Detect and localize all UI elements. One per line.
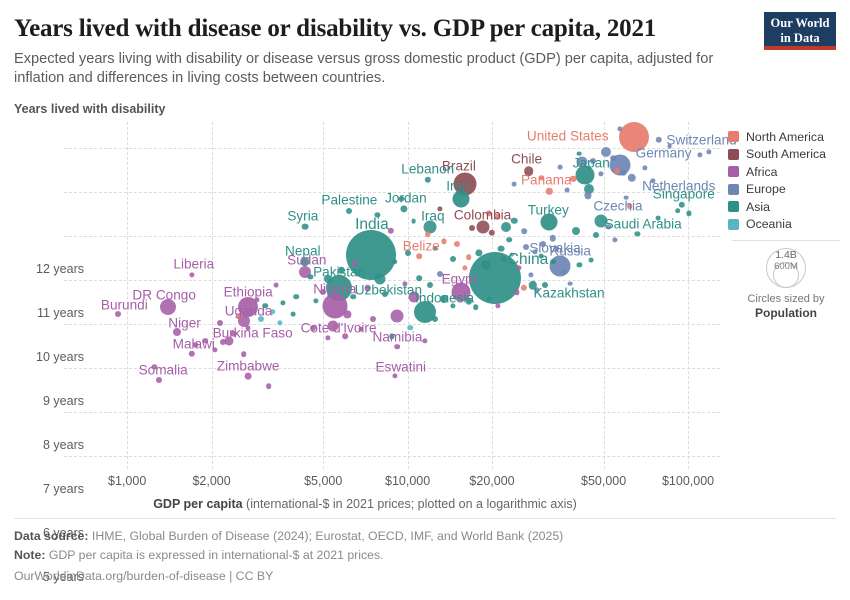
- data-point[interactable]: [517, 265, 522, 270]
- x-axis-tick-label: $2,000: [192, 474, 230, 488]
- owid-logo[interactable]: Our World in Data: [764, 12, 836, 50]
- data-point[interactable]: [558, 164, 563, 169]
- data-point-namibia[interactable]: [395, 344, 401, 350]
- data-point-lebanon[interactable]: [425, 177, 431, 183]
- legend-item-north-america[interactable]: North America: [728, 128, 844, 146]
- data-point-liberia[interactable]: [189, 272, 194, 277]
- data-point[interactable]: [650, 179, 655, 184]
- point-label-eswatini: Eswatini: [375, 359, 426, 374]
- footer-source-text: IHME, Global Burden of Disease (2024); E…: [89, 529, 564, 543]
- footer-source: Data source: IHME, Global Burden of Dise…: [14, 529, 563, 543]
- data-point-czechia[interactable]: [584, 192, 591, 199]
- data-point-singapore[interactable]: [679, 201, 685, 207]
- data-point[interactable]: [270, 309, 276, 315]
- data-point[interactable]: [469, 225, 475, 231]
- y-axis-tick-label: 10 years: [14, 350, 84, 364]
- data-point[interactable]: [570, 176, 576, 182]
- data-point[interactable]: [254, 297, 259, 302]
- data-point[interactable]: [262, 303, 268, 309]
- data-point[interactable]: [392, 259, 398, 265]
- data-point[interactable]: [613, 237, 618, 242]
- data-point[interactable]: [667, 144, 672, 149]
- data-point[interactable]: [375, 213, 380, 218]
- legend-item-south-america[interactable]: South America: [728, 146, 844, 164]
- x-axis-tick-label: $100,000: [662, 474, 714, 488]
- y-gridline: [64, 192, 720, 193]
- point-label-syria: Syria: [287, 208, 318, 223]
- point-label-liberia: Liberia: [173, 256, 214, 271]
- data-point-uzbekistan[interactable]: [375, 274, 386, 285]
- point-label-zimbabwe: Zimbabwe: [217, 358, 280, 373]
- x-gridline: [127, 122, 128, 469]
- data-point[interactable]: [565, 188, 570, 193]
- data-point[interactable]: [399, 196, 404, 201]
- data-point[interactable]: [387, 228, 393, 234]
- footer-divider: [14, 518, 836, 519]
- data-point[interactable]: [364, 285, 371, 292]
- size-key-caption-2: Population: [728, 306, 844, 321]
- data-point[interactable]: [687, 211, 692, 216]
- scatter-plot-area: $1,000$2,000$5,000$10,000$20,000$50,000$…: [100, 122, 720, 469]
- data-point[interactable]: [512, 182, 517, 187]
- data-point[interactable]: [432, 316, 438, 322]
- x-axis-tick-label: $1,000: [108, 474, 146, 488]
- size-key-caption-1: Circles sized by: [728, 292, 844, 306]
- data-point[interactable]: [313, 299, 318, 304]
- data-point[interactable]: [407, 325, 413, 331]
- data-point[interactable]: [511, 218, 517, 224]
- data-point-netherlands[interactable]: [628, 174, 636, 182]
- x-axis-title-bold: GDP per capita: [153, 497, 242, 511]
- data-point-chile[interactable]: [524, 166, 534, 176]
- data-point[interactable]: [593, 232, 599, 238]
- y-gridline: [64, 280, 720, 281]
- legend-label: North America: [746, 130, 824, 144]
- data-point-colombia[interactable]: [476, 220, 489, 233]
- data-point[interactable]: [217, 320, 223, 326]
- point-label-brazil: Brazil: [442, 159, 476, 174]
- data-point[interactable]: [572, 227, 580, 235]
- data-point[interactable]: [324, 275, 332, 283]
- chart-page: Years lived with disease or disability v…: [0, 0, 850, 600]
- data-point[interactable]: [212, 347, 217, 352]
- legend-item-europe[interactable]: Europe: [728, 181, 844, 199]
- y-gridline: [64, 324, 720, 325]
- data-point[interactable]: [590, 158, 596, 164]
- data-point[interactable]: [325, 336, 330, 341]
- data-point-iran[interactable]: [452, 190, 469, 207]
- footer-source-label: Data source:: [14, 529, 89, 543]
- data-point[interactable]: [486, 211, 491, 216]
- data-point-burundi[interactable]: [115, 311, 121, 317]
- data-point[interactable]: [408, 291, 419, 302]
- data-point[interactable]: [437, 271, 443, 277]
- legend-label: Asia: [746, 200, 770, 214]
- y-gridline: [64, 148, 720, 149]
- data-point[interactable]: [344, 311, 351, 318]
- data-point-united-states[interactable]: [619, 122, 649, 152]
- data-point[interactable]: [610, 155, 616, 161]
- y-axis-title: Years lived with disability: [14, 102, 165, 116]
- data-point-belize[interactable]: [416, 253, 422, 259]
- data-point[interactable]: [501, 222, 511, 232]
- data-point[interactable]: [291, 312, 296, 317]
- data-point[interactable]: [554, 246, 560, 252]
- x-gridline: [323, 122, 324, 469]
- data-point[interactable]: [675, 208, 681, 214]
- legend-swatch: [728, 149, 739, 160]
- data-point[interactable]: [606, 224, 611, 229]
- point-label-czechia: Czechia: [593, 199, 642, 214]
- data-point[interactable]: [487, 296, 492, 301]
- point-label-lebanon: Lebanon: [401, 161, 454, 176]
- owid-logo-line1: Our World: [764, 16, 836, 31]
- y-gridline: [64, 368, 720, 369]
- x-gridline: [688, 122, 689, 469]
- data-point[interactable]: [246, 325, 251, 330]
- data-point[interactable]: [450, 256, 456, 262]
- data-point[interactable]: [707, 149, 712, 154]
- page-subtitle: Expected years living with disability or…: [14, 50, 726, 88]
- data-point[interactable]: [577, 151, 582, 156]
- data-point[interactable]: [535, 287, 540, 292]
- data-point[interactable]: [338, 267, 344, 273]
- data-point[interactable]: [577, 262, 582, 267]
- x-axis-tick-label: $20,000: [469, 474, 514, 488]
- data-point[interactable]: [440, 295, 448, 303]
- data-point[interactable]: [521, 285, 527, 291]
- data-point[interactable]: [539, 176, 544, 181]
- footer-note: Note: GDP per capita is expressed in int…: [14, 548, 384, 562]
- size-key-circles: 1.4B 600M: [728, 246, 844, 292]
- data-point[interactable]: [533, 249, 538, 254]
- data-point[interactable]: [193, 343, 198, 348]
- data-point-syria[interactable]: [301, 223, 308, 230]
- x-axis-title: GDP per capita (international-$ in 2021 …: [0, 497, 730, 511]
- data-point[interactable]: [506, 237, 512, 243]
- data-point[interactable]: [542, 282, 548, 288]
- data-point[interactable]: [274, 283, 279, 288]
- data-point[interactable]: [568, 281, 573, 286]
- data-point-malawi[interactable]: [189, 351, 195, 357]
- footer-link[interactable]: OurWorldinData.org/burden-of-disease | C…: [14, 569, 273, 583]
- data-point-somalia[interactable]: [156, 377, 162, 383]
- data-point[interactable]: [497, 245, 504, 252]
- data-point[interactable]: [442, 239, 447, 244]
- data-point[interactable]: [495, 214, 500, 219]
- point-label-singapore: Singapore: [653, 186, 715, 201]
- owid-logo-line2: in Data: [764, 31, 836, 46]
- data-point[interactable]: [540, 241, 546, 247]
- data-point-palestine[interactable]: [346, 208, 352, 214]
- legend-swatch: [728, 184, 739, 195]
- data-point-slovakia[interactable]: [550, 235, 556, 241]
- y-gridline: [64, 412, 720, 413]
- legend-swatch: [728, 219, 739, 230]
- legend-swatch: [728, 131, 739, 142]
- legend-label: Africa: [746, 165, 777, 179]
- data-point[interactable]: [473, 305, 479, 311]
- data-point[interactable]: [310, 325, 316, 331]
- data-point[interactable]: [437, 206, 442, 211]
- data-point[interactable]: [293, 294, 299, 300]
- data-point[interactable]: [281, 300, 286, 305]
- data-point-panama[interactable]: [546, 188, 552, 194]
- data-point[interactable]: [514, 290, 519, 295]
- data-point[interactable]: [655, 215, 660, 220]
- data-point[interactable]: [405, 250, 411, 256]
- data-point[interactable]: [623, 195, 628, 200]
- data-point[interactable]: [523, 244, 529, 250]
- y-axis-tick-label: 11 years: [14, 306, 84, 320]
- data-point[interactable]: [465, 298, 471, 304]
- data-point[interactable]: [427, 282, 433, 288]
- point-label-chile: Chile: [511, 152, 542, 167]
- data-point[interactable]: [588, 258, 593, 263]
- data-point[interactable]: [382, 291, 388, 297]
- point-label-united-states: United States: [527, 129, 609, 144]
- data-point[interactable]: [241, 351, 247, 357]
- data-point[interactable]: [220, 339, 226, 345]
- data-point[interactable]: [509, 252, 514, 257]
- population-size-key: 1.4B 600M Circles sized by Population: [728, 246, 844, 321]
- footer-note-text: GDP per capita is expressed in internati…: [45, 548, 383, 562]
- data-point[interactable]: [539, 254, 544, 259]
- y-axis-tick-label: 7 years: [14, 482, 84, 496]
- data-point-dr-congo[interactable]: [160, 299, 176, 315]
- data-point-eswatini[interactable]: [392, 373, 397, 378]
- size-key-outer-label: 1.4B: [775, 249, 797, 261]
- data-point-china[interactable]: [469, 252, 521, 304]
- legend-label: Europe: [746, 182, 786, 196]
- data-point-jordan[interactable]: [400, 205, 407, 212]
- point-label-somalia: Somalia: [139, 363, 188, 378]
- footer-note-label: Note:: [14, 548, 45, 562]
- legend-divider: [732, 240, 840, 241]
- data-point[interactable]: [450, 303, 455, 308]
- data-point[interactable]: [489, 229, 495, 235]
- x-axis-tick-label: $10,000: [385, 474, 430, 488]
- y-gridline: [64, 236, 720, 237]
- data-point[interactable]: [577, 157, 588, 168]
- data-point[interactable]: [550, 259, 556, 265]
- x-axis-title-rest: (international-$ in 2021 prices; plotted…: [243, 497, 577, 511]
- data-point[interactable]: [258, 316, 264, 322]
- data-point[interactable]: [416, 275, 422, 281]
- data-point-cote-d-ivoire[interactable]: [327, 321, 338, 332]
- data-point[interactable]: [425, 231, 431, 237]
- data-point[interactable]: [231, 331, 237, 337]
- y-axis-tick-label: 8 years: [14, 438, 84, 452]
- y-gridline: [64, 456, 720, 457]
- legend-label: South America: [746, 147, 826, 161]
- data-point-india[interactable]: [346, 230, 396, 280]
- data-point[interactable]: [521, 228, 527, 234]
- data-point[interactable]: [411, 218, 416, 223]
- data-point[interactable]: [422, 338, 427, 343]
- data-point[interactable]: [466, 254, 472, 260]
- data-point-nepal[interactable]: [300, 257, 310, 267]
- x-axis-tick-label: $5,000: [304, 474, 342, 488]
- data-point[interactable]: [320, 289, 326, 295]
- data-point-switzerland[interactable]: [655, 136, 661, 142]
- data-point[interactable]: [627, 204, 633, 210]
- data-point[interactable]: [432, 246, 437, 251]
- y-axis-tick-label: 9 years: [14, 394, 84, 408]
- data-point[interactable]: [495, 303, 500, 308]
- data-point[interactable]: [389, 334, 394, 339]
- point-label-switzerland: Switzerland: [666, 132, 736, 147]
- data-point[interactable]: [462, 265, 467, 270]
- data-point[interactable]: [697, 152, 702, 157]
- data-point-japan[interactable]: [576, 165, 595, 184]
- point-label-burundi: Burundi: [101, 298, 148, 313]
- data-point[interactable]: [481, 260, 491, 270]
- page-title: Years lived with disease or disability v…: [14, 14, 754, 44]
- point-label-namibia: Namibia: [373, 329, 423, 344]
- legend-swatch: [728, 166, 739, 177]
- data-point[interactable]: [266, 384, 272, 390]
- data-point[interactable]: [236, 313, 242, 319]
- data-point[interactable]: [528, 272, 533, 277]
- data-point[interactable]: [308, 274, 313, 279]
- data-point-niger[interactable]: [173, 328, 181, 336]
- data-point[interactable]: [343, 334, 349, 340]
- x-gridline: [212, 122, 213, 469]
- data-point[interactable]: [391, 310, 404, 323]
- legend-item-africa[interactable]: Africa: [728, 163, 844, 181]
- data-point[interactable]: [642, 166, 647, 171]
- point-label-nepal: Nepal: [285, 243, 321, 258]
- data-point[interactable]: [454, 241, 460, 247]
- data-point-zimbabwe[interactable]: [245, 372, 252, 379]
- point-label-saudi-arabia: Saudi Arabia: [605, 216, 682, 231]
- legend-item-oceania[interactable]: Oceania: [728, 216, 844, 234]
- size-key-inner-label: 600M: [774, 261, 798, 272]
- data-point-turkey[interactable]: [541, 214, 558, 231]
- data-point[interactable]: [203, 338, 209, 344]
- continent-legend: North AmericaSouth AmericaAfricaEuropeAs…: [728, 128, 844, 233]
- data-point[interactable]: [614, 168, 620, 174]
- y-axis-tick-label: 12 years: [14, 262, 84, 276]
- x-gridline: [604, 122, 605, 469]
- data-point[interactable]: [358, 327, 363, 332]
- x-axis-tick-label: $50,000: [581, 474, 626, 488]
- point-label-palestine: Palestine: [321, 192, 377, 207]
- data-point[interactable]: [370, 316, 376, 322]
- data-point[interactable]: [501, 256, 507, 262]
- data-point[interactable]: [601, 147, 611, 157]
- legend-item-asia[interactable]: Asia: [728, 198, 844, 216]
- legend-label: Oceania: [746, 217, 792, 231]
- data-point[interactable]: [350, 294, 356, 300]
- legend-swatch: [728, 201, 739, 212]
